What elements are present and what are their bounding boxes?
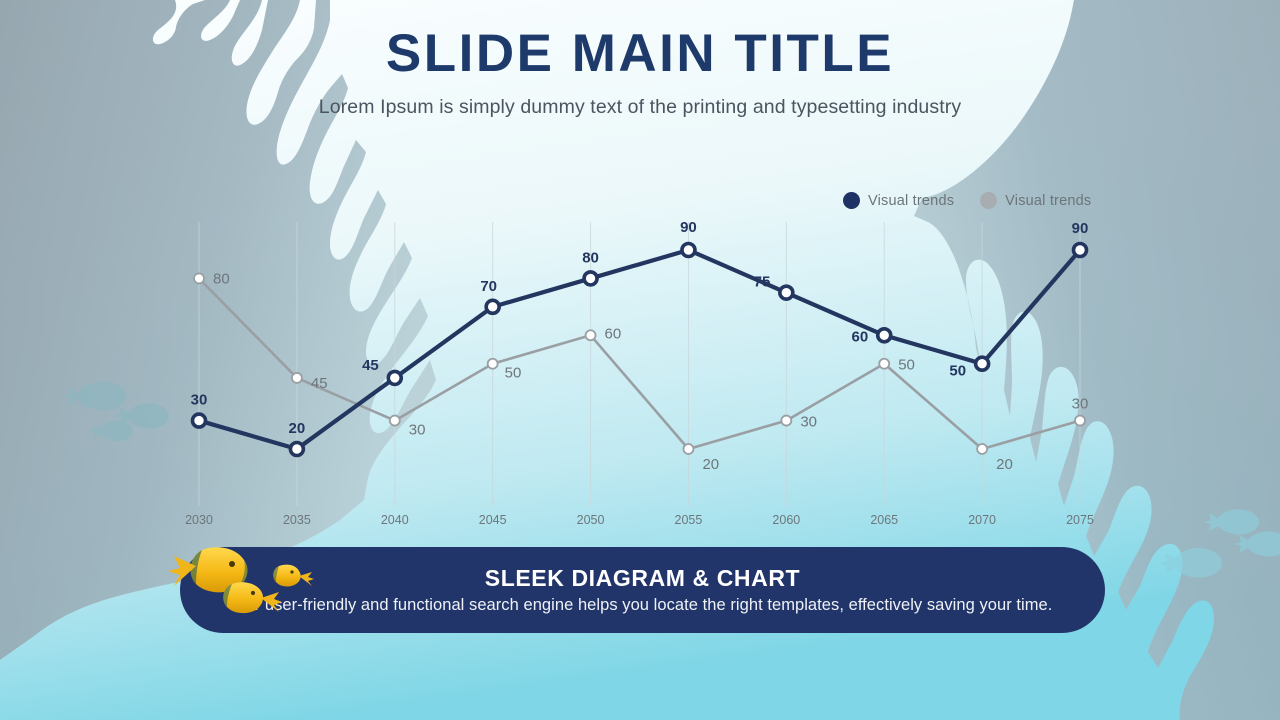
x-axis-label: 2035 [283, 513, 311, 527]
gray-data-point[interactable] [390, 416, 400, 426]
chart-value-labels: 8045305060203050203030204570809075605090 [191, 219, 1089, 473]
gray-data-point[interactable] [1075, 416, 1085, 426]
gray-data-point[interactable] [879, 359, 889, 369]
x-axis-label: 2075 [1066, 513, 1094, 527]
gray-value-label: 45 [311, 375, 328, 392]
legend-item-gray[interactable]: Visual trends [980, 192, 1091, 209]
navy-value-label: 90 [680, 219, 697, 236]
navy-data-point[interactable] [780, 286, 793, 299]
gray-value-label: 80 [213, 270, 230, 287]
navy-value-label: 80 [582, 249, 599, 266]
legend-dot-navy-icon [843, 192, 860, 209]
legend-label-gray: Visual trends [1005, 193, 1091, 209]
navy-data-point[interactable] [976, 357, 989, 370]
gray-data-point[interactable] [586, 330, 596, 340]
x-axis-label: 2065 [870, 513, 898, 527]
gray-value-label: 50 [505, 365, 522, 382]
navy-value-label: 20 [289, 420, 306, 437]
legend-dot-gray-icon [980, 192, 997, 209]
navy-value-label: 45 [362, 357, 379, 374]
chart-legend: Visual trends Visual trends [843, 192, 1091, 209]
page-subtitle: Lorem Ipsum is simply dummy text of the … [0, 82, 1280, 119]
gray-value-label: 50 [898, 357, 915, 374]
legend-item-navy[interactable]: Visual trends [843, 192, 954, 209]
x-axis-label: 2050 [577, 513, 605, 527]
gray-data-point[interactable] [292, 373, 302, 383]
navy-data-point[interactable] [1074, 244, 1087, 257]
navy-value-label: 60 [852, 328, 869, 345]
navy-data-point[interactable] [584, 272, 597, 285]
navy-data-point[interactable] [878, 329, 891, 342]
gray-value-label: 30 [409, 422, 426, 439]
gray-value-label: 30 [1072, 396, 1089, 413]
gray-data-point[interactable] [781, 416, 791, 426]
gray-data-point[interactable] [977, 444, 987, 454]
page-title: SLIDE MAIN TITLE [0, 0, 1280, 82]
banner-title: SLEEK DIAGRAM & CHART [485, 565, 800, 596]
gray-data-point[interactable] [683, 444, 693, 454]
navy-data-point[interactable] [290, 443, 303, 456]
gray-value-label: 30 [800, 414, 817, 431]
gray-value-label: 20 [996, 456, 1013, 473]
x-axis-label: 2070 [968, 513, 996, 527]
gray-data-point[interactable] [194, 273, 204, 283]
gray-value-label: 20 [702, 456, 719, 473]
slide-header: SLIDE MAIN TITLE Lorem Ipsum is simply d… [0, 0, 1280, 119]
legend-label-navy: Visual trends [868, 193, 954, 209]
navy-value-label: 90 [1072, 220, 1089, 237]
navy-value-label: 30 [191, 392, 208, 409]
chart-x-axis-labels: 2030203520402045205020552060206520702075 [185, 513, 1094, 527]
navy-data-point[interactable] [486, 300, 499, 313]
navy-data-point[interactable] [682, 244, 695, 257]
banner-subtitle: Our user-friendly and functional search … [233, 596, 1053, 615]
navy-data-point[interactable] [193, 414, 206, 427]
navy-value-label: 75 [754, 274, 771, 291]
gray-value-label: 60 [605, 325, 622, 342]
navy-value-label: 70 [480, 278, 497, 295]
x-axis-label: 2030 [185, 513, 213, 527]
x-axis-label: 2045 [479, 513, 507, 527]
bottom-banner: SLEEK DIAGRAM & CHART Our user-friendly … [180, 547, 1105, 633]
x-axis-label: 2060 [772, 513, 800, 527]
x-axis-label: 2055 [675, 513, 703, 527]
gray-data-point[interactable] [488, 359, 498, 369]
navy-data-point[interactable] [388, 371, 401, 384]
x-axis-label: 2040 [381, 513, 409, 527]
navy-value-label: 50 [949, 363, 966, 380]
